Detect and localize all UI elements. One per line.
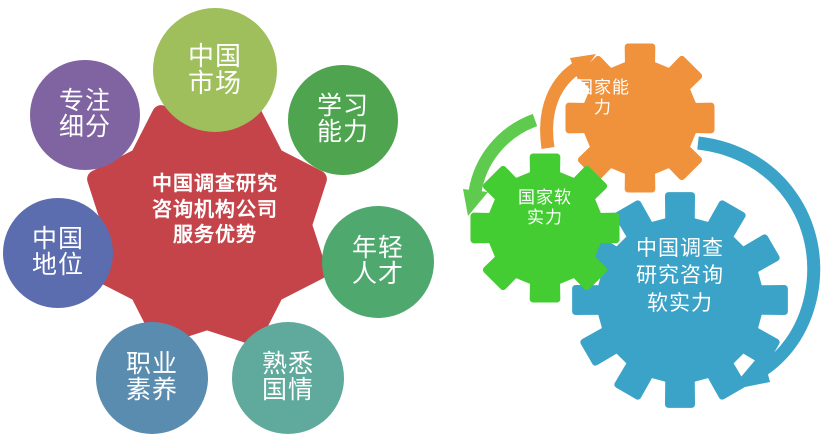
gear-national-soft-power[interactable]: [474, 157, 616, 299]
petal-line-1: 职业: [126, 352, 178, 378]
petal-label: 中国市场: [188, 43, 242, 98]
petal-china-market[interactable]: 中国市场: [153, 8, 277, 132]
petal-line-2: 细分: [59, 115, 111, 141]
petal-learning-ability[interactable]: 学习能力: [288, 65, 398, 175]
gear-national-capability[interactable]: [569, 47, 711, 189]
gears-svg: [430, 0, 831, 443]
petal-label: 年轻人才: [352, 236, 404, 289]
hub-line-3: 服务优势: [105, 223, 325, 249]
petal-line-1: 学习: [317, 94, 369, 120]
petal-line-2: 能力: [317, 120, 369, 146]
hub-and-spokes-diagram: 中国调查研究 咨询机构公司 服务优势 中国市场专注细分学习能力中国地位年轻人才职…: [0, 0, 430, 443]
infographic-canvas: 中国调查研究 咨询机构公司 服务优势 中国市场专注细分学习能力中国地位年轻人才职…: [0, 0, 831, 443]
petal-line-1: 专注: [59, 89, 111, 115]
center-hub-label: 中国调查研究 咨询机构公司 服务优势: [105, 172, 325, 249]
petal-focus-segmentation[interactable]: 专注细分: [30, 60, 140, 170]
petal-line-1: 熟悉: [262, 352, 314, 378]
petal-familiar-conditions[interactable]: 熟悉国情: [232, 322, 344, 434]
petal-professionalism[interactable]: 职业素养: [96, 322, 208, 434]
petal-line-2: 国情: [262, 378, 314, 404]
gear-shape-layer: [474, 47, 784, 404]
petal-line-1: 年轻: [352, 236, 404, 262]
petal-line-2: 素养: [126, 378, 178, 404]
petal-label: 职业素养: [126, 352, 178, 405]
hub-line-1: 中国调查研究: [105, 172, 325, 198]
petal-label: 专注细分: [59, 89, 111, 142]
petal-young-talent[interactable]: 年轻人才: [322, 206, 434, 318]
petal-line-1: 中国: [32, 227, 84, 253]
petal-china-status[interactable]: 中国地位: [3, 198, 113, 308]
petal-line-1: 中国: [188, 43, 242, 70]
petal-line-2: 人才: [352, 262, 404, 288]
petal-label: 熟悉国情: [262, 352, 314, 405]
petal-line-2: 市场: [188, 70, 242, 97]
gears-diagram: 国家能 力 国家软 实力 中国调查 研究咨询 软实力: [430, 0, 831, 443]
petal-label: 学习能力: [317, 94, 369, 147]
petal-label: 中国地位: [32, 227, 84, 280]
hub-line-2: 咨询机构公司: [105, 198, 325, 224]
petal-line-2: 地位: [32, 253, 84, 279]
